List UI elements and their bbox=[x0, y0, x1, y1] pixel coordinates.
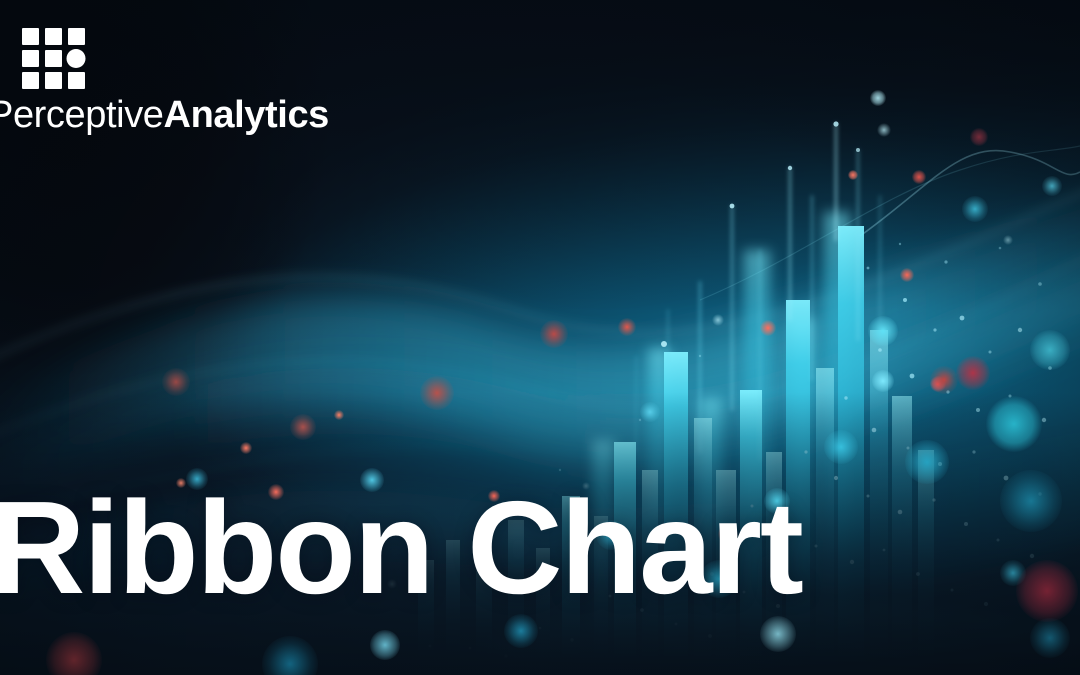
perceptive-analytics-grid-icon bbox=[22, 28, 86, 90]
page-title: Ribbon Chart bbox=[0, 482, 802, 614]
logo-word-analytics: Analytics bbox=[164, 94, 329, 136]
logo-wordmark: PerceptiveAnalytics bbox=[0, 96, 320, 134]
logo-word-perceptive: Perceptive bbox=[0, 94, 164, 136]
banner: PerceptiveAnalytics Ribbon Chart bbox=[0, 0, 1080, 675]
logo[interactable]: PerceptiveAnalytics bbox=[0, 28, 320, 134]
